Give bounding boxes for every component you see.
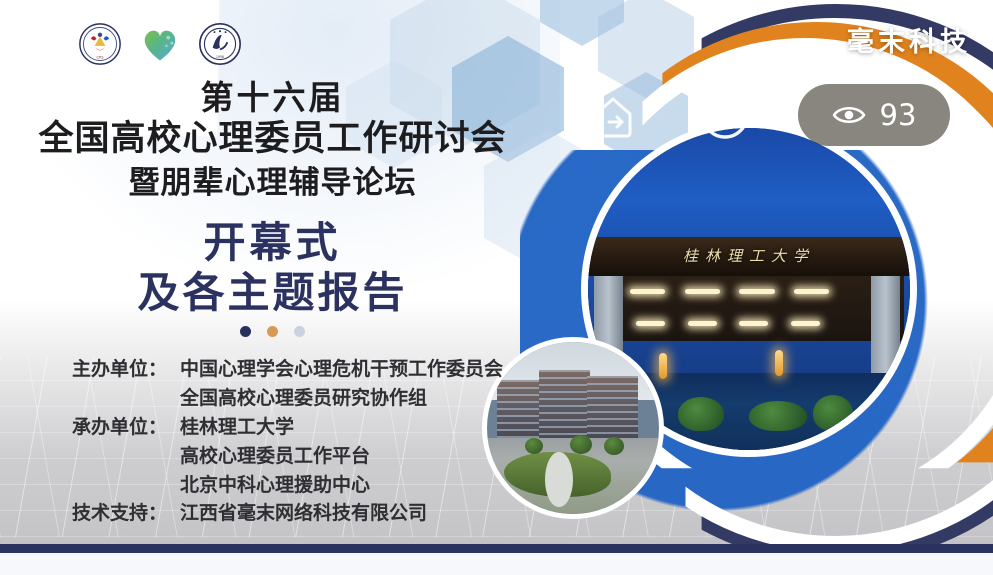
view-count-value: 93 [880, 98, 917, 132]
view-count-badge[interactable]: 93 [798, 84, 950, 146]
photo-lamp [794, 289, 829, 294]
guilin-university-of-technology-seal: 1956 [198, 22, 242, 66]
photo-gate-ceiling [594, 276, 903, 340]
photo-lamp [739, 289, 774, 294]
eye-icon [832, 103, 866, 127]
photo-tree [749, 401, 807, 431]
credit-value: 桂林理工大学 [180, 413, 294, 442]
wechat-miniprogram-icon[interactable] [698, 88, 752, 142]
china-psychological-society-emblem: CPS [78, 22, 122, 66]
credit-value: 中国心理学会心理危机干预工作委员会 [180, 355, 503, 384]
channel-watermark: 毫末科技 [847, 20, 971, 59]
credit-row: 主办单位： 全国高校心理委员研究协作组 [72, 384, 502, 413]
video-cover-stage: 桂林理工大学 [0, 0, 993, 575]
credit-row: 承办单位： 桂林理工大学 [72, 413, 502, 442]
credit-row: 技术支持： 江西省毫末网络科技有限公司 [72, 499, 502, 528]
credit-row: 承办单位： 高校心理委员工作平台 [72, 442, 502, 471]
title-line-3: 暨朋辈心理辅导论坛 [0, 163, 545, 203]
headline-line-2: 及各主题报告 [0, 268, 545, 318]
bottom-white-bar [0, 553, 993, 575]
photo-building [539, 370, 591, 439]
credit-label: 技术支持： [72, 499, 180, 528]
campus-building-photo [487, 342, 659, 514]
photo-building [497, 380, 542, 438]
title-line-2: 全国高校心理委员工作研讨会 [0, 118, 545, 161]
session-headline: 开幕式 及各主题报告 [0, 218, 545, 337]
headline-line-1: 开幕式 [0, 218, 545, 268]
photo-tree [604, 437, 624, 455]
dot-navy [240, 326, 251, 337]
bottom-navy-bar [0, 544, 993, 553]
photo-lamp [636, 321, 665, 326]
credit-label: 主办单位： [72, 355, 180, 384]
credit-value: 北京中科心理援助中心 [180, 471, 370, 500]
photo-light-glow [775, 350, 783, 376]
photo-pillar [871, 276, 900, 385]
credit-row: 承办单位： 北京中科心理援助中心 [72, 471, 502, 500]
photo-path [545, 452, 573, 507]
dot-light-blue [294, 326, 305, 337]
conference-title: 第十六届 全国高校心理委员工作研讨会 暨朋辈心理辅导论坛 [0, 78, 545, 203]
logo-group: CPS 1956 [78, 22, 242, 66]
decorative-dots [0, 326, 545, 337]
credit-value: 江西省毫末网络科技有限公司 [180, 499, 427, 528]
credits-block: 主办单位： 中国心理学会心理危机干预工作委员会 主办单位： 全国高校心理委员研究… [72, 355, 502, 528]
home-icon[interactable] [588, 92, 638, 142]
credit-value: 高校心理委员工作平台 [180, 442, 370, 471]
photo-lamp [688, 321, 717, 326]
photo-lamp [685, 289, 720, 294]
photo-tree [678, 397, 724, 431]
photo-tree [813, 395, 853, 431]
credit-value: 全国高校心理委员研究协作组 [180, 384, 427, 413]
credit-label: 承办单位： [72, 413, 180, 442]
svg-text:CPS: CPS [96, 56, 104, 60]
photo-gate-sign-text: 桂林理工大学 [640, 242, 859, 268]
svg-text:1956: 1956 [216, 55, 224, 59]
photo-building [587, 376, 639, 438]
photo-lamp [630, 289, 665, 294]
dot-orange [267, 326, 278, 337]
photo-tree [570, 435, 592, 454]
photo-light-glow [659, 353, 667, 379]
title-line-1: 第十六届 [0, 78, 545, 118]
green-blue-heart-emblem [138, 22, 182, 66]
photo-lamp [791, 321, 820, 326]
photo-lamp [739, 321, 768, 326]
credit-row: 主办单位： 中国心理学会心理危机干预工作委员会 [72, 355, 502, 384]
